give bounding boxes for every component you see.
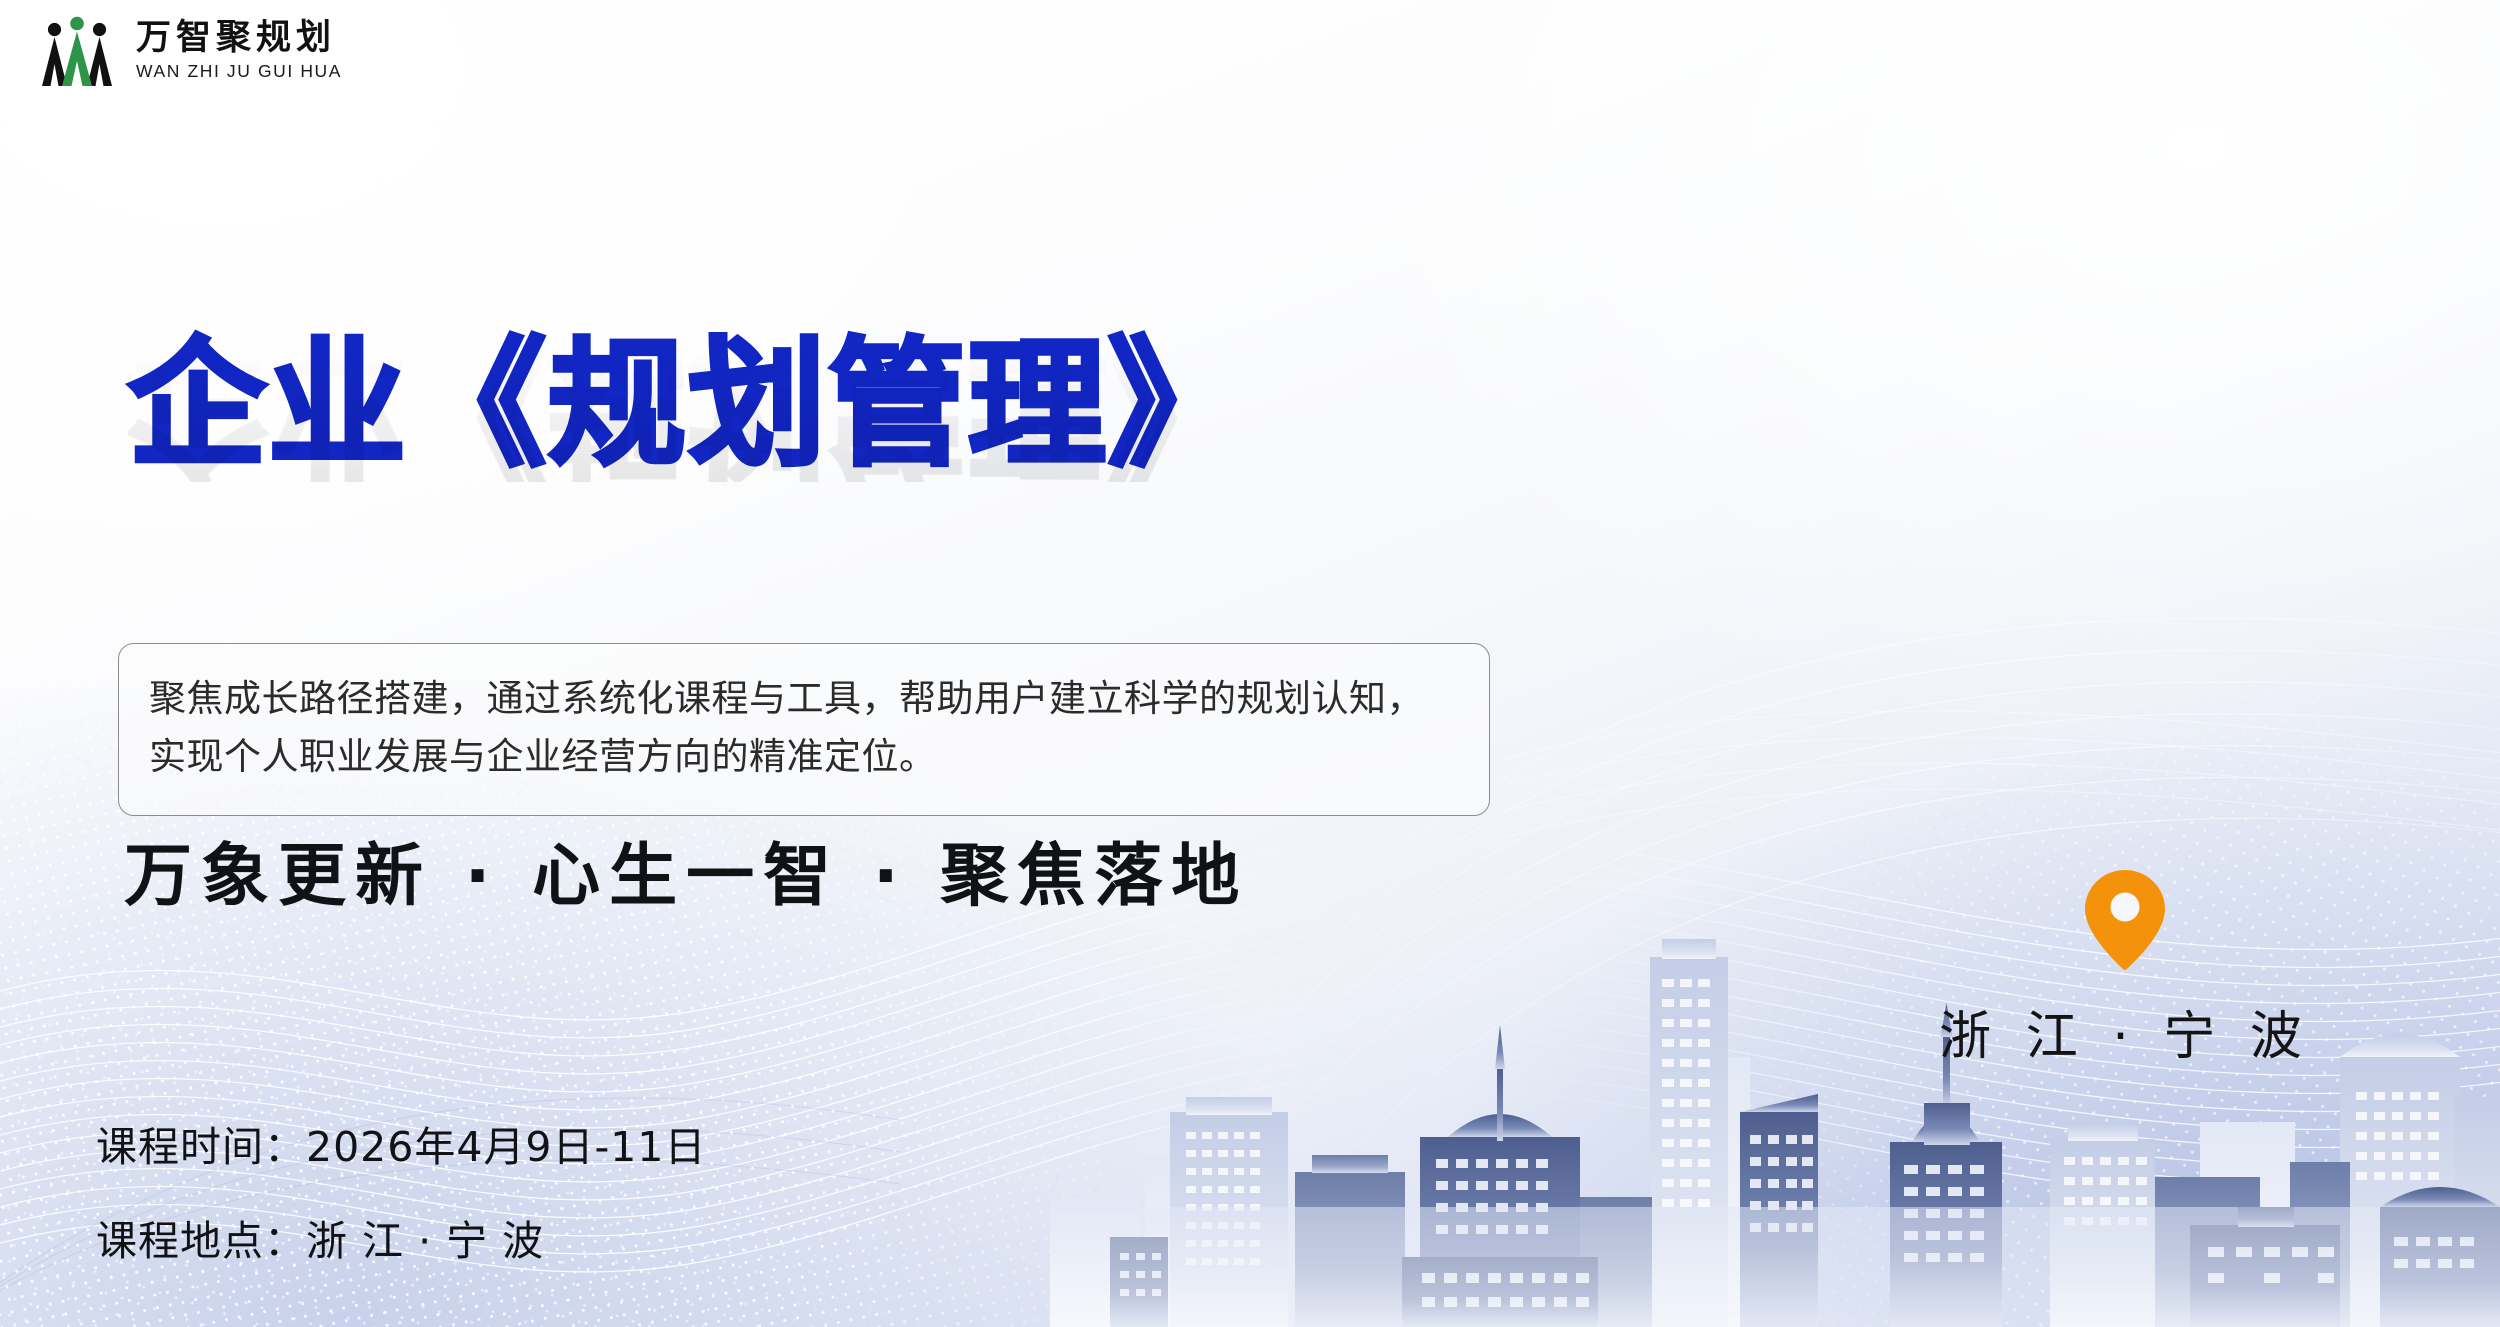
hero-title-block: 企业《规划管理》 企业《规划管理》 xyxy=(128,336,1248,620)
course-place-line: 课程地点：浙 江 · 宁 波 xyxy=(96,1207,706,1267)
poster-canvas: 万智聚规划 WAN ZHI JU GUI HUA 企业《规划管理》 企业《规划管… xyxy=(0,0,2500,1327)
brand-name-en: WAN ZHI JU GUI HUA xyxy=(136,61,342,82)
course-details: 课程时间：2026年4月9日-11日 课程地点：浙 江 · 宁 波 xyxy=(96,1113,706,1267)
three-people-m-logo-icon xyxy=(34,14,120,88)
description-text: 聚焦成长路径搭建，通过系统化课程与工具，帮助用户建立科学的规划认知，实现个人职业… xyxy=(149,670,1459,787)
brand-name-cn: 万智聚规划 xyxy=(136,20,342,57)
location-badge: 浙 江 · 宁 波 xyxy=(1960,868,2290,1069)
brand-logo[interactable]: 万智聚规划 WAN ZHI JU GUI HUA xyxy=(34,14,342,88)
course-time-line: 课程时间：2026年4月9日-11日 xyxy=(96,1113,706,1173)
page-title-reflection: 企业《规划管理》 xyxy=(128,344,1248,482)
description-box: 聚焦成长路径搭建，通过系统化课程与工具，帮助用户建立科学的规划认知，实现个人职业… xyxy=(118,643,1490,816)
map-pin-icon xyxy=(2079,868,2171,972)
slogan-text: 万象更新 · 心生一智 · 聚焦落地 xyxy=(124,820,1248,919)
background-glow-top-right xyxy=(1300,0,2500,750)
location-label: 浙 江 · 宁 波 xyxy=(1939,994,2311,1069)
brand-logo-text: 万智聚规划 WAN ZHI JU GUI HUA xyxy=(136,20,342,82)
